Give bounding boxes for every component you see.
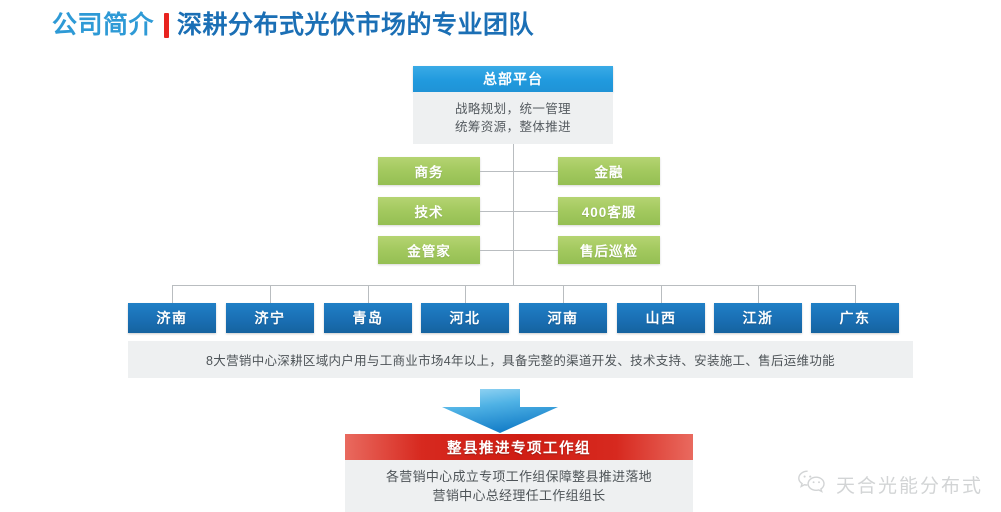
connector-region-drop-0 bbox=[172, 285, 173, 303]
function-box-right-1[interactable]: 400客服 bbox=[558, 197, 660, 225]
connector-trunk-vertical bbox=[513, 144, 514, 285]
region-box-6[interactable]: 江浙 bbox=[714, 303, 802, 333]
watermark: 天合光能分布式 bbox=[797, 469, 983, 500]
title-separator-icon bbox=[164, 13, 169, 38]
headquarters-desc-line1: 战略规划，统一管理 bbox=[455, 100, 571, 118]
task-force-header[interactable]: 整县推进专项工作组 bbox=[345, 434, 693, 460]
connector-function-row-0 bbox=[480, 171, 558, 172]
headquarters-desc-line2: 统筹资源，整体推进 bbox=[455, 118, 571, 136]
connector-function-row-1 bbox=[480, 211, 558, 212]
connector-region-bus bbox=[172, 285, 855, 286]
function-box-left-0[interactable]: 商务 bbox=[378, 157, 480, 185]
region-box-5[interactable]: 山西 bbox=[617, 303, 705, 333]
region-box-0[interactable]: 济南 bbox=[128, 303, 216, 333]
page-title: 公司简介 深耕分布式光伏市场的专业团队 bbox=[52, 8, 534, 42]
region-box-4[interactable]: 河南 bbox=[519, 303, 607, 333]
connector-region-drop-5 bbox=[661, 285, 662, 303]
function-box-left-2[interactable]: 金管家 bbox=[378, 236, 480, 264]
slide-canvas: 公司简介 深耕分布式光伏市场的专业团队 总部平台 战略规划，统一管理 统筹资源，… bbox=[0, 0, 1001, 512]
wechat-icon bbox=[797, 469, 827, 500]
title-lead-text: 公司简介 bbox=[52, 13, 154, 38]
task-force-desc-line2: 营销中心总经理任工作组组长 bbox=[433, 486, 606, 505]
connector-region-drop-4 bbox=[563, 285, 564, 303]
task-force-desc-line1: 各营销中心成立专项工作组保障整县推进落地 bbox=[386, 467, 652, 486]
connector-region-drop-6 bbox=[758, 285, 759, 303]
region-box-2[interactable]: 青岛 bbox=[324, 303, 412, 333]
watermark-text: 天合光能分布式 bbox=[836, 471, 983, 498]
title-main-text: 深耕分布式光伏市场的专业团队 bbox=[177, 13, 534, 38]
region-box-3[interactable]: 河北 bbox=[421, 303, 509, 333]
function-box-right-0[interactable]: 金融 bbox=[558, 157, 660, 185]
region-box-1[interactable]: 济宁 bbox=[226, 303, 314, 333]
down-arrow-icon bbox=[440, 389, 560, 433]
connector-region-drop-7 bbox=[855, 285, 856, 303]
connector-function-row-2 bbox=[480, 250, 558, 251]
function-box-right-2[interactable]: 售后巡检 bbox=[558, 236, 660, 264]
headquarters-header[interactable]: 总部平台 bbox=[413, 66, 613, 92]
regions-caption: 8大营销中心深耕区域内户用与工商业市场4年以上，具备完整的渠道开发、技术支持、安… bbox=[128, 341, 913, 378]
task-force-description: 各营销中心成立专项工作组保障整县推进落地 营销中心总经理任工作组组长 bbox=[345, 460, 693, 512]
connector-region-drop-2 bbox=[368, 285, 369, 303]
headquarters-description: 战略规划，统一管理 统筹资源，整体推进 bbox=[413, 92, 613, 144]
function-box-left-1[interactable]: 技术 bbox=[378, 197, 480, 225]
region-box-7[interactable]: 广东 bbox=[811, 303, 899, 333]
connector-region-drop-1 bbox=[270, 285, 271, 303]
connector-region-drop-3 bbox=[465, 285, 466, 303]
